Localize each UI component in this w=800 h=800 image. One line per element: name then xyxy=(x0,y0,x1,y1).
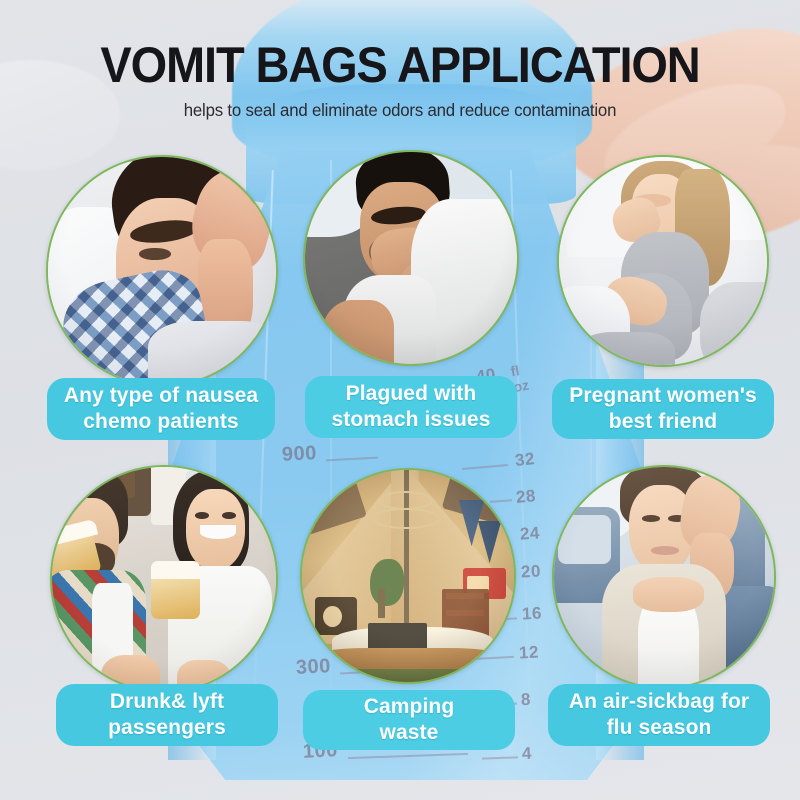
caption-line-1: Plagued with xyxy=(346,382,477,405)
caption-pregnant-women[interactable]: Pregnant women's best friend xyxy=(552,379,774,439)
caption-line-2: best friend xyxy=(609,410,717,433)
scale-tick-oz-8: 8 xyxy=(521,690,532,710)
caption-text: An air-sickbag for flu season xyxy=(569,689,749,740)
scale-tick-oz-32: 32 xyxy=(514,449,536,471)
caption-nausea-chemo[interactable]: Any type of nausea chemo patients xyxy=(47,378,275,440)
caption-line-1: Any type of nausea xyxy=(64,384,258,407)
scale-tick-oz-20: 20 xyxy=(520,561,541,582)
poster-canvas: 900 300 100 40 fl oz 32 28 24 20 16 12 8… xyxy=(0,0,800,800)
photo-camping-waste xyxy=(300,468,516,684)
caption-stomach-issues[interactable]: Plagued with stomach issues xyxy=(305,376,517,438)
caption-text: Camping waste xyxy=(364,694,455,745)
page-title: VOMIT BAGS APPLICATION xyxy=(24,36,776,94)
caption-text: Any type of nausea chemo patients xyxy=(64,383,258,434)
caption-line-1: An air-sickbag for xyxy=(569,690,749,713)
scale-tick-oz-28: 28 xyxy=(515,486,537,508)
caption-flu-season[interactable]: An air-sickbag for flu season xyxy=(548,684,770,746)
scale-tick-oz-12: 12 xyxy=(518,642,539,663)
photo-drunk-lyft xyxy=(50,465,278,693)
caption-line-1: Pregnant women's xyxy=(569,384,756,407)
caption-text: Plagued with stomach issues xyxy=(332,381,491,432)
caption-line-2: chemo patients xyxy=(83,410,238,433)
scale-tick-oz-4: 4 xyxy=(522,744,533,764)
caption-line-2: flu season xyxy=(607,716,712,739)
caption-line-2: stomach issues xyxy=(332,408,491,431)
caption-line-1: Drunk& lyft xyxy=(110,690,224,713)
caption-line-1: Camping xyxy=(364,695,455,718)
scale-tick-oz-16: 16 xyxy=(521,603,542,624)
photo-pregnant-women xyxy=(557,155,769,367)
caption-text: Drunk& lyft passengers xyxy=(108,689,226,740)
caption-line-2: waste xyxy=(380,721,439,744)
scale-tick-ml-900: 900 xyxy=(281,442,317,467)
caption-text: Pregnant women's best friend xyxy=(569,383,756,434)
caption-camping-waste[interactable]: Camping waste xyxy=(303,690,515,750)
scale-tick-oz-24: 24 xyxy=(519,523,540,544)
caption-line-2: passengers xyxy=(108,716,226,739)
page-subtitle: helps to seal and eliminate odors and re… xyxy=(16,100,784,121)
photo-flu-season xyxy=(552,465,776,689)
photo-nausea-chemo xyxy=(46,155,278,387)
photo-stomach-issues xyxy=(303,150,519,366)
caption-drunk-lyft[interactable]: Drunk& lyft passengers xyxy=(56,684,278,746)
